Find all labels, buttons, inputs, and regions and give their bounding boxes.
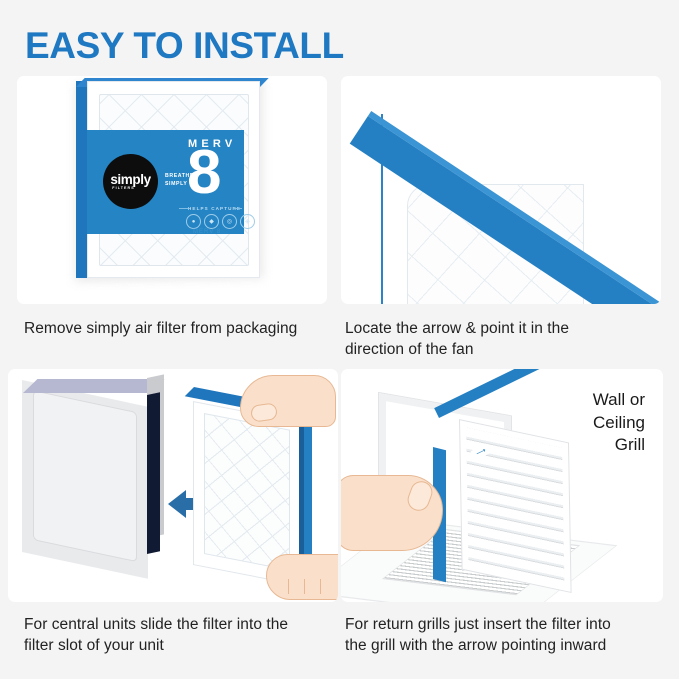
pollen-icon: ●: [186, 214, 201, 229]
grill-louver-panel: [459, 419, 572, 593]
product-label-band: simply FILTERS BREATHE SIMPLY MERV 8 HEL…: [87, 130, 244, 234]
step-card-4: ⟶ Wall or Ceiling Grill For return grill…: [341, 369, 670, 656]
filter-edge-airflow-arrows: [341, 76, 661, 304]
ghost-label-text: MERV 8: [193, 229, 221, 235]
filter-box-package: simply FILTERS BREATHE SIMPLY MERV 8 HEL…: [17, 76, 327, 304]
step-card-1: simply FILTERS BREATHE SIMPLY MERV 8 HEL…: [17, 76, 346, 339]
filter-pleated-media: [204, 413, 290, 571]
step-card-3: For central units slide the filter into …: [8, 369, 337, 656]
filter-side-frame-shadow: [299, 412, 304, 563]
central-unit-filter-slide: [8, 369, 338, 602]
dust-icon: ◆: [204, 214, 219, 229]
brand-logo-badge: simply FILTERS: [103, 154, 158, 209]
easy-to-install-infographic: EASY TO INSTALL simply FILTERS: [0, 0, 679, 679]
finger-crease-3: [320, 579, 321, 594]
helps-rule-right: [233, 208, 242, 209]
caption-line: For return grills just insert the filter…: [345, 614, 670, 635]
helps-rule-left: [179, 208, 188, 209]
finger-crease-1: [288, 579, 289, 594]
caption-line: filter slot of your unit: [24, 635, 337, 656]
step-1-illustration-card: simply FILTERS BREATHE SIMPLY MERV 8 HEL…: [17, 76, 327, 304]
caption-line: For central units slide the filter into …: [24, 614, 337, 635]
grill-label-line: Grill: [593, 434, 645, 457]
grill-label-line: Ceiling: [593, 412, 645, 435]
step-2-caption: Locate the arrow & point it in the direc…: [345, 318, 670, 360]
step-2-illustration-card: [341, 76, 661, 304]
brand-logo-text: simply: [110, 173, 150, 186]
filter-top-frame: [434, 369, 556, 418]
hand-lower: [266, 554, 338, 600]
step-card-2: Locate the arrow & point it in the direc…: [341, 76, 670, 360]
brand-logo-subtext: FILTERS: [112, 186, 134, 191]
airflow-arrow-icon-1: [446, 136, 478, 168]
caption-line: Locate the arrow & point it in the: [345, 318, 670, 339]
grill-label-line: Wall or: [593, 389, 645, 412]
mold-icon: ◈: [240, 214, 255, 229]
caption-line: the grill with the arrow pointing inward: [345, 635, 670, 656]
step-4-caption: For return grills just insert the filter…: [345, 614, 670, 656]
grill-label: Wall or Ceiling Grill: [593, 389, 645, 457]
hvac-unit-inner-panel: [33, 390, 137, 562]
steps-grid: simply FILTERS BREATHE SIMPLY MERV 8 HEL…: [0, 76, 679, 676]
airflow-arrow-group: [341, 76, 661, 304]
page-title: EASY TO INSTALL: [25, 24, 344, 68]
filter-slot: [147, 392, 160, 554]
lint-icon: ◎: [222, 214, 237, 229]
step-1-caption: Remove simply air filter from packaging: [24, 318, 346, 339]
step-3-illustration-card: [8, 369, 338, 602]
caption-line: Remove simply air filter from packaging: [24, 318, 346, 339]
capture-icons: ● ◆ ◎ ◈: [186, 214, 255, 229]
merv-rating: 8: [187, 142, 220, 204]
step-3-caption: For central units slide the filter into …: [24, 614, 337, 656]
airflow-arrow-icon-2: [476, 158, 508, 190]
hvac-unit-top: [23, 379, 164, 393]
finger-crease-2: [304, 579, 305, 594]
caption-line: direction of the fan: [345, 339, 670, 360]
wall-ceiling-grill-insert: ⟶ Wall or Ceiling Grill: [341, 369, 663, 602]
step-4-illustration-card: ⟶ Wall or Ceiling Grill: [341, 369, 663, 602]
